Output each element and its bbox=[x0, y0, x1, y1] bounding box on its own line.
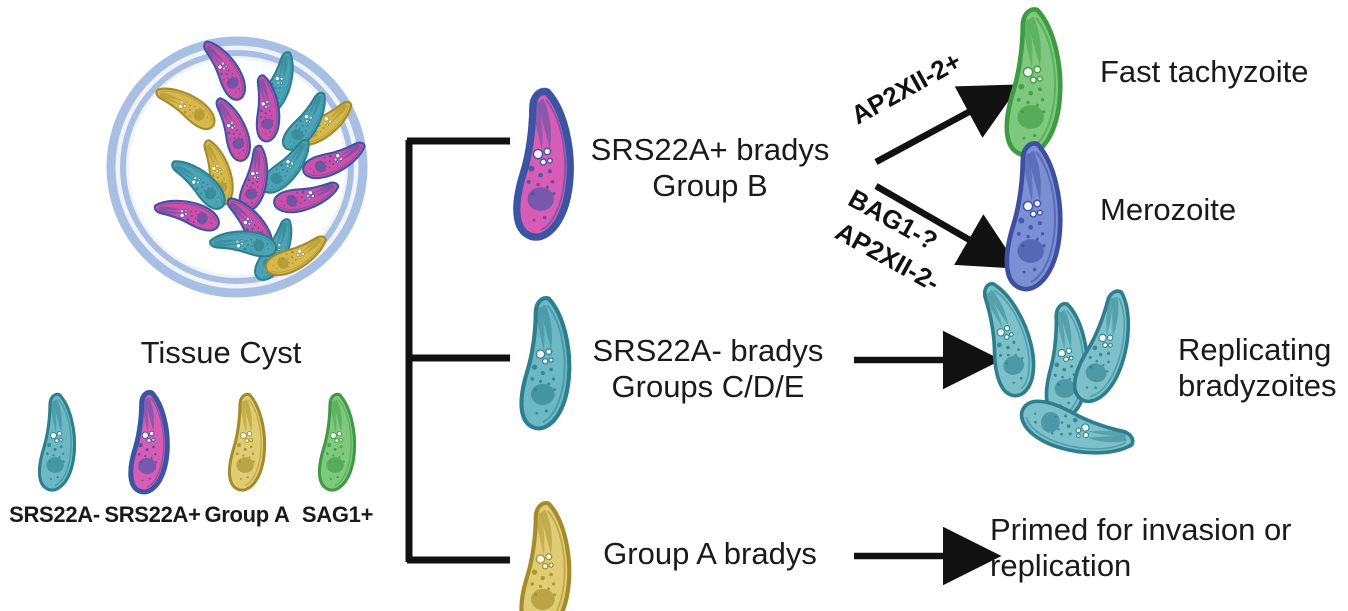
legend-item-group-a bbox=[222, 392, 270, 492]
legend-item-srs22a-plus bbox=[122, 390, 174, 494]
parasite-icon bbox=[506, 88, 578, 240]
legend-item-sag1-plus bbox=[312, 392, 360, 492]
branch-parasite-groups-cde bbox=[512, 295, 576, 431]
tissue-cyst-icon bbox=[96, 12, 376, 302]
rosette-icon bbox=[945, 288, 1165, 488]
parasite-icon bbox=[996, 6, 1068, 158]
arrow-to-primed bbox=[852, 544, 972, 568]
outcome-parasite-fast-tachyzoite bbox=[996, 6, 1068, 158]
branch-parasite-group-a bbox=[512, 500, 576, 611]
outcome-replicating-bradyzoites-cluster bbox=[945, 288, 1165, 488]
legend-label-srs22a-minus: SRS22A- bbox=[2, 502, 107, 528]
legend-label-sag1-plus: SAG1+ bbox=[290, 502, 385, 528]
parasite-icon bbox=[312, 392, 360, 492]
legend: SRS22A- SRS22A+ Group A SAG1+ bbox=[10, 392, 410, 542]
figure-canvas: Tissue Cyst SRS22A- SRS22A+ Group A SAG1… bbox=[0, 0, 1348, 611]
outcome-label-merozoite: Merozoite bbox=[1100, 192, 1348, 228]
branch-label-groups-cde: SRS22A- bradys Groups C/D/E bbox=[578, 333, 838, 405]
outcome-label-primed: Primed for invasion or replication bbox=[990, 512, 1348, 584]
branch-label-group-a: Group A bradys bbox=[580, 536, 840, 572]
legend-label-group-a: Group A bbox=[197, 502, 297, 528]
parasite-icon bbox=[996, 140, 1068, 292]
parasite-icon bbox=[512, 500, 576, 611]
outcome-label-replicating-bradyzoites: Replicating bradyzoites bbox=[1178, 332, 1348, 404]
parasite-icon bbox=[32, 392, 80, 492]
tissue-cyst-label: Tissue Cyst bbox=[96, 335, 346, 371]
parasite-icon bbox=[512, 295, 576, 431]
tissue-cyst-group bbox=[96, 12, 376, 302]
branch-label-group-b: SRS22A+ bradys Group B bbox=[580, 132, 840, 204]
outcome-parasite-merozoite bbox=[996, 140, 1068, 292]
legend-label-srs22a-plus: SRS22A+ bbox=[100, 502, 205, 528]
legend-item-srs22a-minus bbox=[32, 392, 80, 492]
outcome-label-fast-tachyzoite: Fast tachyzoite bbox=[1100, 54, 1348, 90]
parasite-icon bbox=[222, 392, 270, 492]
branch-parasite-group-b bbox=[506, 88, 578, 240]
parasite-icon bbox=[122, 390, 174, 494]
